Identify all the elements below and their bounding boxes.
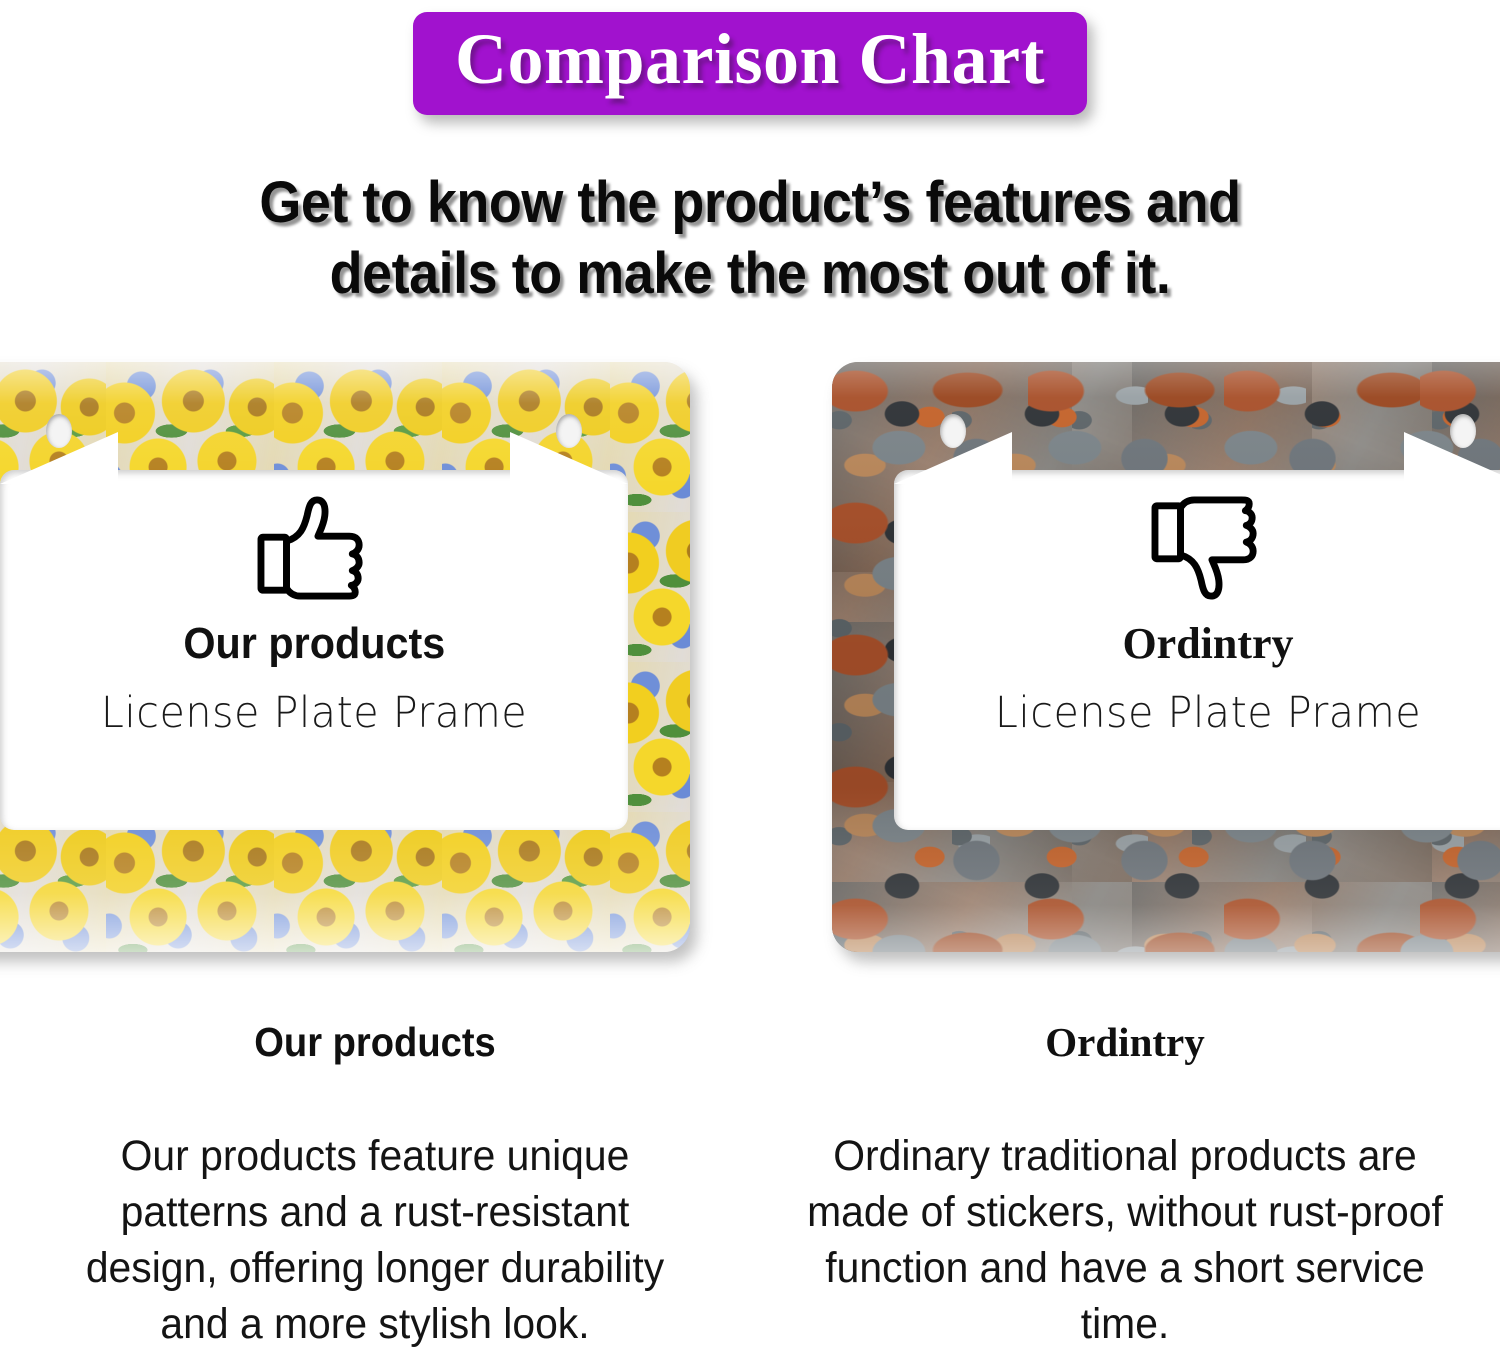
screw-hole-right bbox=[1450, 414, 1476, 448]
plate-heading-ours: Our products bbox=[183, 622, 445, 666]
header-section: Comparison Chart Get to know the product… bbox=[0, 0, 1500, 330]
page-title: Comparison Chart bbox=[455, 21, 1045, 99]
license-plate-frame-ours: Our products License Plate Prame bbox=[0, 362, 690, 952]
description-columns: Our products Our products feature unique… bbox=[0, 1022, 1500, 1353]
column-heading-ordinary: Ordintry bbox=[786, 1022, 1464, 1063]
license-plate-frame-ordinary: Ordintry License Plate Prame bbox=[832, 362, 1500, 952]
thumbs-up-icon bbox=[255, 494, 373, 602]
plate-content-ours: Our products License Plate Prame bbox=[0, 470, 628, 830]
screw-hole-left bbox=[940, 414, 966, 448]
subtitle: Get to know the product’s features and d… bbox=[53, 168, 1448, 310]
plates-comparison-section: Our products License Plate Prame Ordintr… bbox=[0, 362, 1500, 982]
description-column-ours: Our products Our products feature unique… bbox=[0, 1022, 750, 1353]
plate-heading-ordinary: Ordintry bbox=[1122, 622, 1293, 666]
banner-container: Comparison Chart bbox=[0, 12, 1500, 115]
column-body-ordinary: Ordinary traditional products are made o… bbox=[803, 1129, 1447, 1353]
thumbs-down-icon bbox=[1149, 494, 1267, 602]
column-heading-ours: Our products bbox=[60, 1022, 691, 1063]
subtitle-line-1: Get to know the product’s features and bbox=[53, 168, 1448, 239]
subtitle-line-2: details to make the most out of it. bbox=[53, 239, 1448, 310]
comparison-chart-banner: Comparison Chart bbox=[413, 12, 1087, 115]
plate-subheading-ours: License Plate Prame bbox=[101, 692, 527, 735]
plate-content-ordinary: Ordintry License Plate Prame bbox=[894, 470, 1500, 830]
plate-subheading-ordinary: License Plate Prame bbox=[995, 692, 1421, 735]
description-column-ordinary: Ordintry Ordinary traditional products a… bbox=[750, 1022, 1500, 1353]
screw-hole-left bbox=[46, 414, 72, 448]
column-body-ours: Our products feature unique patterns and… bbox=[53, 1129, 697, 1353]
screw-hole-right bbox=[556, 414, 582, 448]
